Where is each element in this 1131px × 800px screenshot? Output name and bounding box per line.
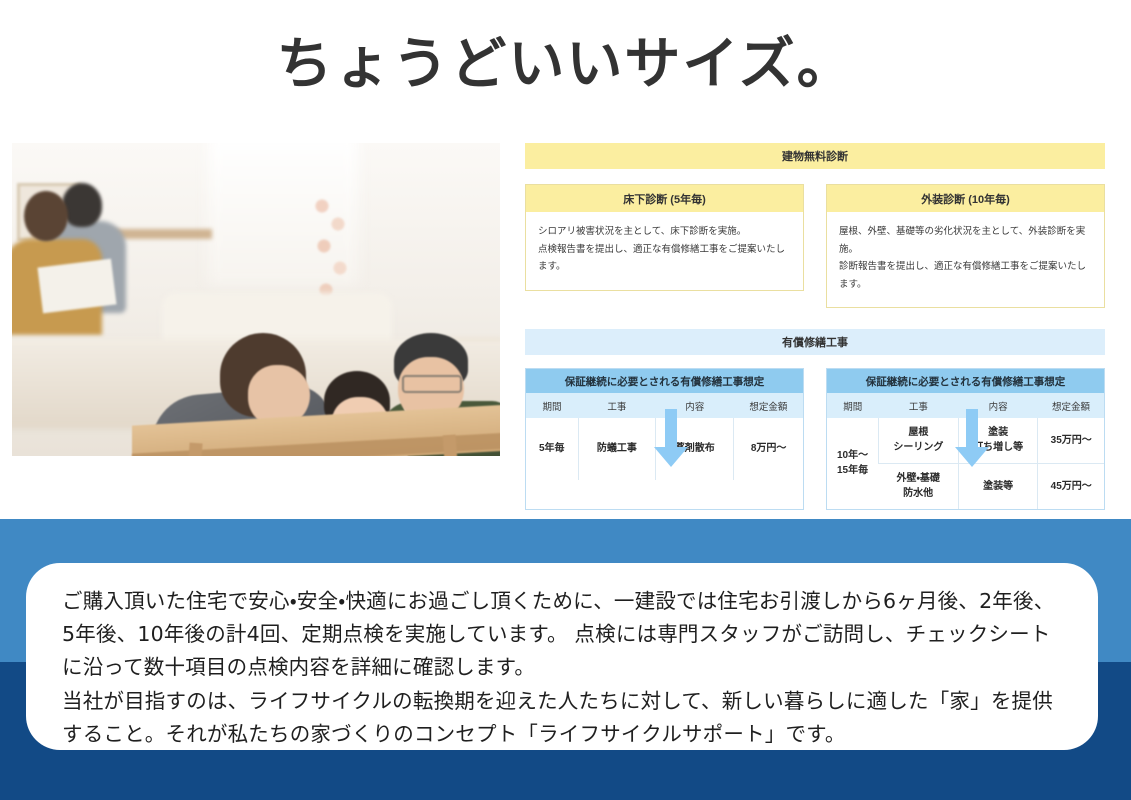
down-arrow-icon-left [654,409,688,467]
inspection-column-exterior: 外装診断 (10年毎) 屋根、外壁、基礎等の劣化状況を主として、外装診断を実施。… [826,184,1105,308]
paid-repair-band: 有償修繕工事 [525,329,1105,355]
cell-amount: 45万円〜 [1038,464,1104,510]
family-photo [12,143,500,456]
column-header-amount: 想定金額 [734,393,803,418]
inspection-body-floor: シロアリ被害状況を主として、床下診断を実施。 点検報告書を提出し、適正な有償修繕… [526,212,803,290]
inspection-body-exterior: 屋根、外壁、基礎等の劣化状況を主として、外装診断を実施。 診断報告書を提出し、適… [827,212,1104,307]
inspection-columns: 床下診断 (5年毎) シロアリ被害状況を主として、床下診断を実施。 点検報告書を… [525,184,1105,308]
description-paragraph-1: ご購入頂いた住宅で安心・安全・快適にお過ごし頂くために、一建設では住宅お引渡しか… [62,585,1066,685]
column-header-work: 工事 [879,393,959,418]
cell-amount: 8万円〜 [734,418,803,480]
cell-detail: 塗装等 [958,464,1038,510]
inspection-box-exterior: 外装診断 (10年毎) 屋根、外壁、基礎等の劣化状況を主として、外装診断を実施。… [826,184,1105,308]
cell-period: 10年〜15年毎 [827,418,879,509]
cell-amount: 35万円〜 [1038,418,1104,464]
page-title: ちょうどいいサイズ。 [0,34,1131,96]
inspection-exterior-line1: 屋根、外壁、基礎等の劣化状況を主として、外装診断を実施。 [839,223,1092,258]
inspection-floor-line1: シロアリ被害状況を主として、床下診断を実施。 [538,223,791,241]
inspection-column-floor: 床下診断 (5年毎) シロアリ被害状況を主として、床下診断を実施。 点検報告書を… [525,184,804,308]
repair-tables: 保証継続に必要とされる有償修繕工事想定 期間 工事 内容 想定金額 5年毎 防蟻… [525,368,1105,510]
description-card: ご購入頂いた住宅で安心・安全・快適にお過ごし頂くために、一建設では住宅お引渡しか… [26,563,1098,750]
photo-background-woman-head [24,191,68,241]
column-header-work: 工事 [578,393,656,418]
column-header-amount: 想定金額 [1038,393,1104,418]
inspection-box-floor: 床下診断 (5年毎) シロアリ被害状況を主として、床下診断を実施。 点検報告書を… [525,184,804,291]
photo-table-leg-left [186,443,202,456]
repair-table-title-floor: 保証継続に必要とされる有償修繕工事想定 [526,369,803,393]
maintenance-diagram: 建物無料診断 床下診断 (5年毎) シロアリ被害状況を主として、床下診断を実施。… [525,143,1105,510]
inspection-exterior-line2: 診断報告書を提出し、適正な有償修繕工事をご提案いたします。 [839,258,1092,293]
column-header-period: 期間 [526,393,578,418]
free-inspection-band: 建物無料診断 [525,143,1105,169]
inspection-heading-exterior: 外装診断 (10年毎) [827,185,1104,212]
description-paragraph-2: 当社が目指すのは、ライフサイクルの転換期を迎えた人たちに対して、新しい暮らしに適… [62,685,1066,751]
inspection-heading-floor: 床下診断 (5年毎) [526,185,803,212]
cell-work: 外壁・基礎防水他 [879,464,959,510]
cell-period: 5年毎 [526,418,578,480]
photo-background-man-head [62,183,102,227]
cell-work: 防蟻工事 [578,418,656,480]
down-arrow-icon-right [955,409,989,467]
photo-grandfather-glasses [402,375,462,393]
photo-background-woman-paper [37,259,116,314]
inspection-floor-line2: 点検報告書を提出し、適正な有償修繕工事をご提案いたします。 [538,241,791,276]
cell-work: 屋根シーリング [879,418,959,464]
repair-table-title-exterior: 保証継続に必要とされる有償修繕工事想定 [827,369,1104,393]
column-header-period: 期間 [827,393,879,418]
